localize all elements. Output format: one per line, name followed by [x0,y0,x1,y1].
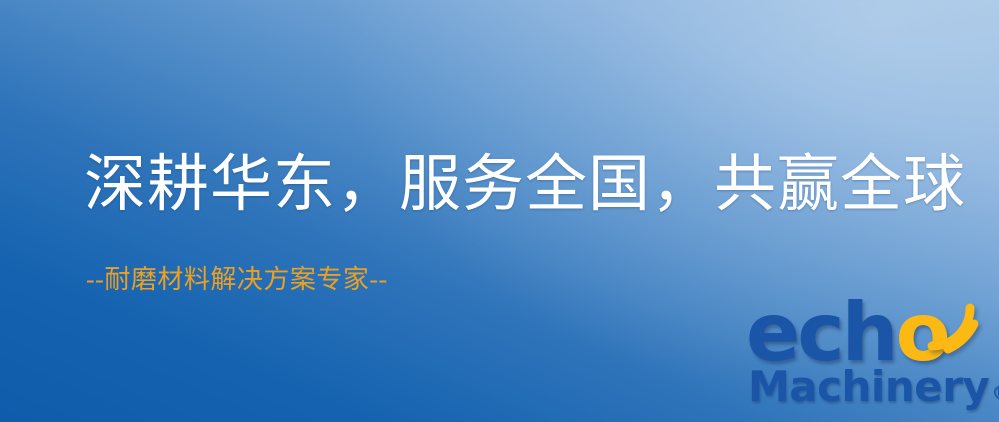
promo-banner: 深耕华东，服务全国，共赢全球 --耐磨材料解决方案专家-- ech o Mach… [0,0,999,422]
logo-subtext: Machinery ® [748,366,999,408]
wifi-waves-icon [918,294,980,356]
company-logo[interactable]: ech o Machinery ® [742,296,994,420]
logo-brand-primary: ech [746,296,896,370]
banner-subtitle: --耐磨材料解决方案专家-- [86,266,388,295]
banner-headline: 深耕华东，服务全国，共赢全球 [84,152,966,219]
registered-trademark-icon: ® [989,384,999,408]
logo-brand-secondary: Machinery [748,366,989,408]
